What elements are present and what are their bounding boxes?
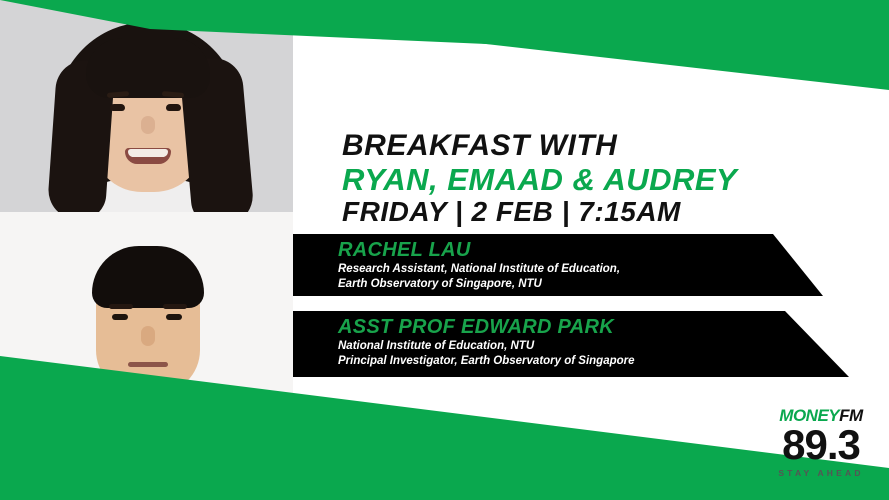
nose-shape [141,326,155,346]
promo-graphic: BREAKFAST WITH RYAN, EMAAD & AUDREY FRID… [0,0,889,500]
eyebrow-right [163,304,187,309]
speaker-name: ASST PROF EDWARD PARK [338,317,849,338]
speaker-name: RACHEL LAU [338,240,823,261]
eye-right [166,314,182,320]
eye-left [112,314,128,320]
show-title: BREAKFAST WITH [342,131,882,161]
title-block: BREAKFAST WITH RYAN, EMAAD & AUDREY FRID… [342,131,882,226]
eyebrow-left [109,304,133,309]
speaker-photo-column [0,0,293,500]
fringe-shape [86,38,210,98]
portrait-illustration [0,212,293,500]
speaker-photo-edward-park [0,212,293,500]
eye-right [166,104,181,111]
moneyfm-logo: MONEYFM 89.3 STAY AHEAD [765,407,877,478]
speaker-role-line-1: Research Assistant, National Institute o… [338,262,823,276]
portrait-illustration [0,0,293,212]
speaker-role-line-1: National Institute of Education, NTU [338,339,849,353]
schedule-line: FRIDAY | 2 FEB | 7:15AM [342,198,882,226]
logo-frequency: 89.3 [765,425,877,465]
nose-shape [141,116,155,134]
teeth-shape [128,149,168,157]
speaker-banner-2: ASST PROF EDWARD PARK National Institute… [293,311,849,377]
eye-left [110,104,125,111]
speaker-role-line-2: Earth Observatory of Singapore, NTU [338,277,823,291]
logo-tagline: STAY AHEAD [765,468,877,478]
host-names: RYAN, EMAAD & AUDREY [342,164,882,195]
speaker-banner-1: RACHEL LAU Research Assistant, National … [293,234,823,296]
mouth-shape [128,362,168,367]
speaker-photo-rachel-lau [0,0,293,212]
speaker-role-line-2: Principal Investigator, Earth Observator… [338,354,849,368]
